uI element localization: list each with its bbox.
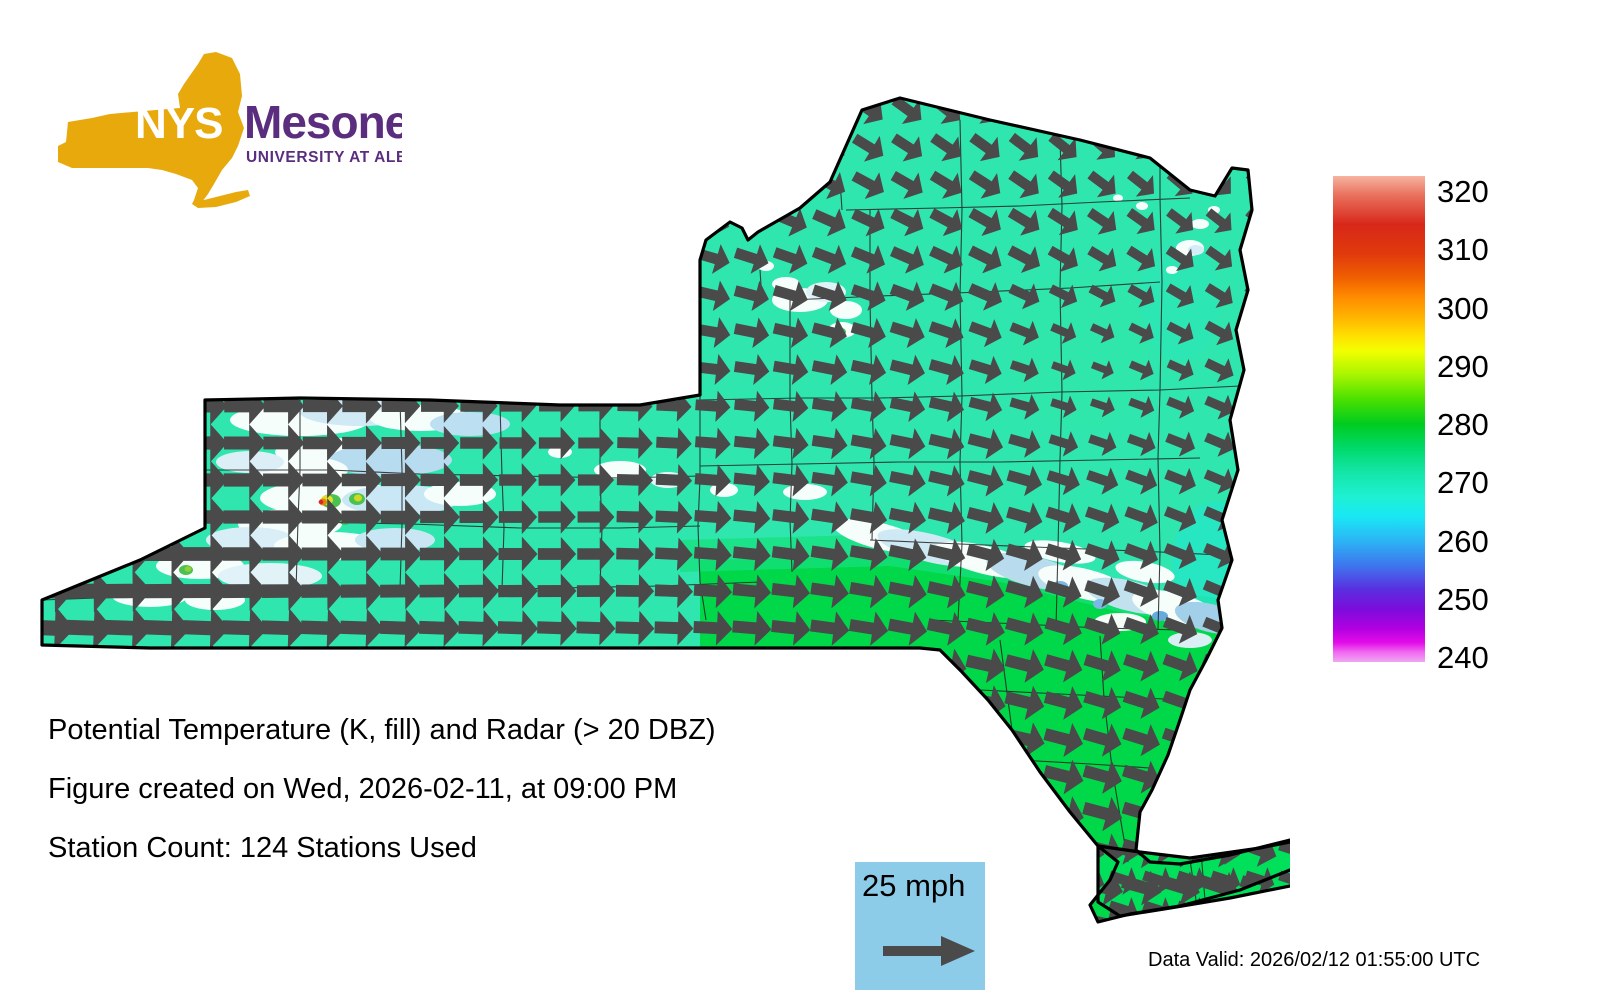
wind-arrow xyxy=(614,127,657,168)
colorbar-gradient xyxy=(1333,176,1425,662)
wind-arrow xyxy=(184,349,228,389)
wind-arrow xyxy=(807,903,853,945)
wind-arrow xyxy=(654,314,693,350)
wind-arrow xyxy=(1201,91,1239,129)
wind-arrow xyxy=(730,163,773,205)
wind-arrow xyxy=(142,235,192,281)
wind-arrow xyxy=(106,460,151,500)
wind-arrow xyxy=(653,164,696,205)
colorbar-tick-300: 300 xyxy=(1437,293,1489,324)
wind-arrow xyxy=(145,349,190,389)
wind-arrow xyxy=(496,163,540,204)
wind-arrow xyxy=(1122,90,1162,130)
wind-arrow xyxy=(300,236,346,279)
wind-arrow xyxy=(885,792,932,835)
wind-arrow xyxy=(339,237,384,279)
wind-arrow xyxy=(535,126,578,167)
wind-arrow xyxy=(1039,864,1088,910)
colorbar-tick-310: 310 xyxy=(1437,234,1489,265)
wind-arrow xyxy=(459,314,499,351)
wind-arrow xyxy=(1139,802,1176,839)
wind-arrow xyxy=(418,200,463,242)
wind-arrow xyxy=(223,349,266,388)
wind-arrow xyxy=(615,239,656,277)
wind-arrow xyxy=(652,89,695,131)
wind-arrow xyxy=(691,163,734,204)
wind-arrow xyxy=(67,386,111,426)
wind-arrow xyxy=(104,310,151,353)
data-valid-timestamp: Data Valid: 2026/02/12 01:55:00 UTC xyxy=(1148,950,1480,970)
wind-arrow xyxy=(496,89,541,132)
wind-arrow xyxy=(538,352,575,386)
wind-arrow xyxy=(27,496,74,538)
wind-arrow xyxy=(66,460,111,501)
wind-arrow xyxy=(143,273,191,318)
wind-arrow xyxy=(652,126,695,167)
wind-arrow xyxy=(615,277,655,314)
wind-arrow xyxy=(1241,802,1278,839)
wind-arrow xyxy=(417,125,463,169)
wind-arrow xyxy=(106,386,150,425)
wind-arrow xyxy=(182,273,230,317)
wind-arrow xyxy=(456,126,501,169)
wind-arrow xyxy=(1161,127,1201,166)
wind-arrow xyxy=(146,387,189,425)
wind-arrow xyxy=(1043,89,1086,131)
caption-title: Potential Temperature (K, fill) and Rada… xyxy=(48,716,868,745)
wind-arrow xyxy=(654,647,695,684)
caption-block: Potential Temperature (K, fill) and Rada… xyxy=(48,716,868,893)
wind-arrow xyxy=(341,312,384,351)
wind-arrow xyxy=(497,276,538,314)
wind-arrow xyxy=(497,238,539,277)
wind-arrow xyxy=(105,348,150,389)
wind-arrow xyxy=(653,201,695,241)
wind-arrow xyxy=(1237,755,1282,798)
wind-arrow xyxy=(731,646,773,684)
wind-arrow xyxy=(1197,754,1242,797)
wind-arrow xyxy=(1158,791,1205,835)
wind-arrow xyxy=(1240,425,1278,461)
wind-arrow xyxy=(769,89,813,132)
wind-arrow xyxy=(768,904,813,945)
wind-arrow xyxy=(1040,827,1089,872)
colorbar-group: 320310300290280270260250240 xyxy=(1333,176,1583,666)
wind-arrow xyxy=(376,902,425,946)
wind-arrow xyxy=(106,423,150,462)
wind-arrow xyxy=(417,88,463,133)
wind-arrow xyxy=(1161,90,1200,129)
colorbar-tick-250: 250 xyxy=(1437,584,1489,615)
colorbar-tick-320: 320 xyxy=(1437,176,1489,207)
wind-arrow xyxy=(145,497,190,537)
wind-arrow xyxy=(885,755,931,798)
wind-arrow xyxy=(458,276,500,315)
wind-arrow xyxy=(379,275,422,315)
wind-arrow xyxy=(1238,645,1281,686)
wind-arrow xyxy=(923,791,971,835)
wind-arrow xyxy=(1237,718,1281,760)
wind-arrow xyxy=(65,310,113,354)
wind-scale-arrow-icon xyxy=(883,934,975,968)
wind-arrow xyxy=(962,754,1010,798)
wind-arrow xyxy=(457,163,502,205)
wind-arrow xyxy=(419,313,460,351)
wind-arrow xyxy=(101,900,155,948)
logo-mesonet-text: Mesonet xyxy=(244,96,402,148)
wind-arrow xyxy=(24,642,75,688)
wind-arrow xyxy=(222,273,269,316)
wind-arrow xyxy=(23,900,77,948)
wind-arrow xyxy=(962,791,1010,836)
wind-arrow xyxy=(1237,681,1280,722)
wind-arrow xyxy=(886,644,931,686)
wind-arrow xyxy=(263,350,305,388)
wind-arrow xyxy=(458,238,501,278)
wind-arrow xyxy=(538,314,577,349)
wind-arrow xyxy=(1240,351,1278,388)
wind-arrow xyxy=(1239,498,1279,536)
wind-arrow xyxy=(27,348,74,390)
wind-arrow xyxy=(381,351,421,387)
wind-arrow xyxy=(340,275,384,316)
wind-arrow xyxy=(1240,313,1278,350)
wind-arrow xyxy=(1197,791,1243,835)
colorbar-tick-240: 240 xyxy=(1437,642,1489,673)
wind-arrow xyxy=(300,274,345,316)
wind-arrow xyxy=(1235,902,1282,947)
wind-arrow xyxy=(924,717,971,760)
wind-arrow xyxy=(1196,901,1244,946)
wind-arrow xyxy=(616,314,655,349)
wind-arrow xyxy=(536,239,577,277)
wind-arrow xyxy=(301,312,344,352)
logo-nys-text: NYS xyxy=(135,99,222,148)
wind-arrow xyxy=(578,353,614,386)
wind-arrow xyxy=(420,351,459,387)
wind-arrow xyxy=(1275,802,1290,839)
wind-arrow xyxy=(300,644,346,685)
wind-arrow xyxy=(730,904,774,944)
wind-arrow xyxy=(1241,892,1278,929)
wind-arrow xyxy=(63,234,114,282)
wind-arrow xyxy=(180,900,233,948)
wind-arrow xyxy=(67,423,112,463)
wind-arrow xyxy=(342,350,383,387)
wind-arrow xyxy=(1239,535,1279,574)
wind-arrow xyxy=(337,901,387,946)
wind-arrow xyxy=(575,89,618,130)
wind-arrow xyxy=(496,126,540,168)
wind-arrow xyxy=(691,126,734,168)
wind-arrow xyxy=(1201,128,1239,166)
wind-arrow xyxy=(537,276,577,313)
wind-arrow xyxy=(221,236,269,281)
wind-arrow xyxy=(1173,802,1210,839)
wind-arrow xyxy=(691,89,735,131)
wind-arrow xyxy=(418,645,462,684)
wind-arrow xyxy=(614,89,657,130)
wind-arrow xyxy=(808,88,852,131)
colorbar-tick-labels: 320310300290280270260250240 xyxy=(1437,176,1577,662)
wind-arrow xyxy=(575,202,616,241)
wind-arrow xyxy=(66,496,112,537)
wind-arrow xyxy=(145,460,189,499)
wind-arrow xyxy=(416,902,464,946)
wind-arrow xyxy=(1039,901,1089,947)
wind-arrow xyxy=(66,533,113,575)
wind-arrow xyxy=(144,311,191,354)
wind-arrow xyxy=(62,900,116,948)
wind-arrow xyxy=(27,459,73,500)
wind-scale-legend: 25 mph xyxy=(855,862,985,990)
wind-arrow xyxy=(1001,827,1050,872)
wind-arrow xyxy=(576,277,615,313)
wind-arrow xyxy=(417,163,462,206)
wind-arrow xyxy=(379,645,423,685)
logo-tagline-text: UNIVERSITY AT ALBANY xyxy=(246,149,402,166)
wind-arrow xyxy=(1238,608,1280,648)
wind-arrow xyxy=(262,312,306,352)
wind-arrow xyxy=(182,643,230,686)
wind-arrow xyxy=(536,164,579,204)
wind-arrow xyxy=(691,904,736,944)
wind-arrow xyxy=(26,310,75,355)
wind-arrow xyxy=(1240,388,1277,424)
wind-arrow xyxy=(536,201,578,240)
wind-arrow xyxy=(1240,461,1279,498)
wind-arrow xyxy=(577,315,615,350)
wind-arrow xyxy=(145,424,188,463)
wind-arrow xyxy=(655,352,693,386)
wind-arrow xyxy=(260,236,307,280)
wind-arrow xyxy=(924,681,970,724)
wind-arrow xyxy=(1000,901,1050,947)
wind-arrow xyxy=(140,900,194,948)
wind-arrow xyxy=(497,201,540,241)
wind-arrow xyxy=(458,646,501,685)
wind-arrow xyxy=(497,646,539,684)
wind-arrow xyxy=(730,89,774,132)
wind-arrow xyxy=(103,235,153,282)
wind-arrow xyxy=(1198,718,1243,760)
wind-arrow xyxy=(456,88,502,132)
wind-arrow xyxy=(1238,571,1279,610)
wind-arrow xyxy=(1082,89,1124,130)
wind-arrow xyxy=(573,903,618,944)
wind-arrow xyxy=(380,313,422,351)
wind-arrow xyxy=(769,126,813,169)
wind-arrow xyxy=(536,646,577,683)
wind-arrow xyxy=(1207,802,1244,839)
wind-arrow xyxy=(64,272,114,318)
wind-arrow xyxy=(575,164,617,204)
wind-arrow xyxy=(302,350,344,388)
wind-arrow xyxy=(1000,864,1049,910)
wind-arrow xyxy=(612,904,657,945)
wind-arrow xyxy=(24,234,76,283)
wind-arrow xyxy=(183,311,229,353)
wind-arrow xyxy=(1241,92,1278,129)
wind-arrow xyxy=(576,239,616,277)
colorbar xyxy=(1333,176,1425,662)
wind-arrow xyxy=(614,164,656,204)
wind-arrow xyxy=(962,717,1009,761)
wind-arrow xyxy=(616,352,653,386)
wind-arrow xyxy=(847,645,891,686)
wind-arrow xyxy=(653,239,694,278)
wind-arrow xyxy=(693,646,734,683)
wind-arrow xyxy=(27,386,72,426)
caption-created: Figure created on Wed, 2026-02-11, at 09… xyxy=(48,775,868,804)
wind-arrow xyxy=(258,901,309,947)
wind-arrow xyxy=(499,352,537,386)
wind-arrow xyxy=(535,89,579,131)
wind-arrow xyxy=(651,904,696,945)
wind-arrow xyxy=(1001,791,1049,836)
wind-arrow xyxy=(615,647,656,684)
wind-arrow xyxy=(221,644,268,687)
wind-arrow xyxy=(379,237,424,279)
wind-arrow xyxy=(261,274,307,316)
wind-arrow xyxy=(66,348,112,390)
wind-arrow xyxy=(575,127,617,167)
wind-arrow xyxy=(808,645,851,685)
colorbar-tick-280: 280 xyxy=(1437,409,1489,440)
wind-arrow xyxy=(923,754,970,797)
wind-arrow xyxy=(298,901,349,947)
wind-arrow xyxy=(885,681,930,723)
wind-arrow xyxy=(457,200,501,241)
wind-arrow xyxy=(1240,128,1277,165)
wind-arrow xyxy=(418,238,462,279)
wind-arrow xyxy=(261,644,308,686)
wind-arrow xyxy=(885,718,931,760)
wind-arrow xyxy=(419,275,462,314)
wind-arrow xyxy=(25,272,76,319)
wind-arrow xyxy=(339,645,384,686)
wind-arrow xyxy=(495,903,542,945)
wind-arrow xyxy=(1236,791,1281,834)
wind-scale-label: 25 mph xyxy=(862,868,965,904)
wind-arrow xyxy=(182,235,231,280)
wind-arrow xyxy=(26,533,73,576)
wind-arrow xyxy=(534,903,580,945)
wind-arrow xyxy=(455,902,503,945)
nys-mesonet-logo: NYS Mesonet UNIVERSITY AT ALBANY xyxy=(52,50,402,210)
wind-arrow xyxy=(460,352,499,387)
colorbar-tick-270: 270 xyxy=(1437,467,1489,498)
wind-arrow xyxy=(730,126,774,168)
colorbar-tick-260: 260 xyxy=(1437,526,1489,557)
wind-arrow xyxy=(105,497,150,538)
colorbar-tick-290: 290 xyxy=(1437,351,1489,382)
wind-arrow xyxy=(769,163,813,205)
wind-arrow xyxy=(1275,892,1290,929)
wind-arrow xyxy=(219,900,271,947)
caption-station-count: Station Count: 124 Stations Used xyxy=(48,834,868,863)
wind-arrow xyxy=(770,646,813,685)
wind-arrow xyxy=(1198,681,1242,723)
wind-arrow xyxy=(614,201,656,240)
wind-arrow xyxy=(654,276,695,314)
wind-arrow xyxy=(222,311,267,352)
wind-arrow xyxy=(498,314,538,350)
wind-arrow xyxy=(64,642,114,687)
wind-arrow xyxy=(576,647,617,684)
wind-arrow xyxy=(103,272,152,317)
wind-arrow xyxy=(27,423,72,464)
